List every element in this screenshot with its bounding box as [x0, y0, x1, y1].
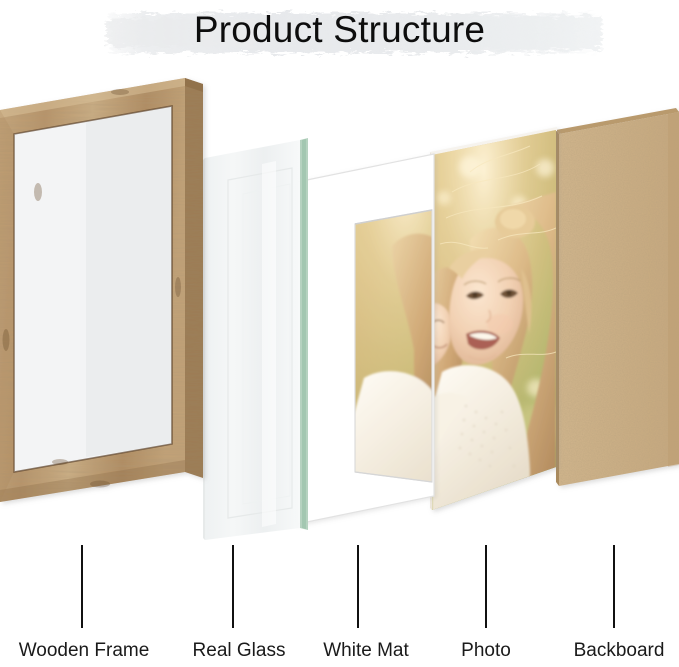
layer-real-glass: [203, 138, 308, 540]
label-backboard: Backboard: [549, 638, 679, 664]
label-white-mat: White Mat: [296, 638, 436, 664]
exploded-layer-illustration: [0, 72, 679, 542]
label-real-glass: Real Glass: [165, 638, 313, 664]
title-area: Product Structure: [0, 0, 679, 72]
layer-label-row: Wooden Frame Real Glass White Mat Photo …: [0, 638, 679, 667]
layer-backboard: [556, 108, 679, 486]
label-wooden-frame: Wooden Frame: [0, 638, 168, 664]
page-title: Product Structure: [0, 4, 679, 56]
layer-wooden-frame: [0, 78, 203, 502]
product-structure-diagram: Product Structure: [0, 0, 679, 667]
label-photo: Photo: [421, 638, 551, 664]
